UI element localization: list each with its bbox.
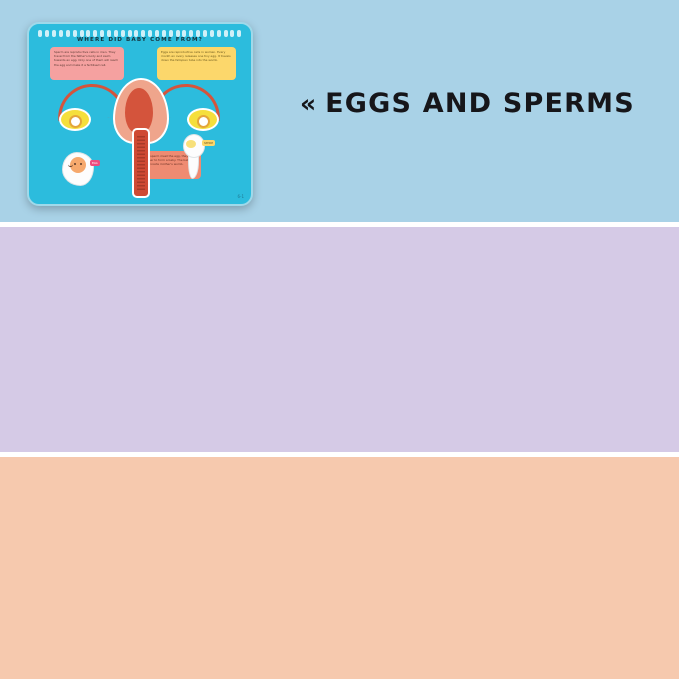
book-page-eggs-and-sperms: WHERE DID BABY COME FROM? Sperm are repr… xyxy=(27,22,253,206)
ovary-left-icon xyxy=(59,108,91,131)
panel-yes-or-no: YES or NO Sometimes a doctor or nurse wi… xyxy=(0,457,679,679)
egg-label: EGG xyxy=(90,160,100,166)
page-title: WHERE DID BABY COME FROM? xyxy=(29,37,251,43)
panel-eggs-and-sperms: WHERE DID BABY COME FROM? Sperm are repr… xyxy=(0,0,679,222)
caption-eggs-and-sperms: « EGGS AND SPERMS xyxy=(300,88,635,119)
note-sperm: Sperm are reproductive cells in men. The… xyxy=(50,47,124,80)
note-egg: Eggs are reproductive cells in women. Ev… xyxy=(157,47,236,80)
product-image-collage: WHERE DID BABY COME FROM? Sperm are repr… xyxy=(0,0,679,679)
vaginal-canal-icon xyxy=(132,128,150,198)
page-number: 6-1 xyxy=(237,194,244,199)
spiral-binding xyxy=(29,29,251,37)
sperm-label: SPERM xyxy=(202,140,215,146)
ovary-right-icon xyxy=(187,108,219,131)
caption-label: EGGS AND SPERMS xyxy=(325,88,635,119)
uterus-cavity-icon xyxy=(125,88,153,133)
panel-where-did-i-come-from: WHERE DID I COME FROM? » Kid: Mummy, whe… xyxy=(0,227,679,452)
sperm-character-sticker: SPERM xyxy=(181,134,205,178)
chevron-left-icon: « xyxy=(300,89,311,118)
egg-character-sticker: EGG xyxy=(62,152,94,186)
